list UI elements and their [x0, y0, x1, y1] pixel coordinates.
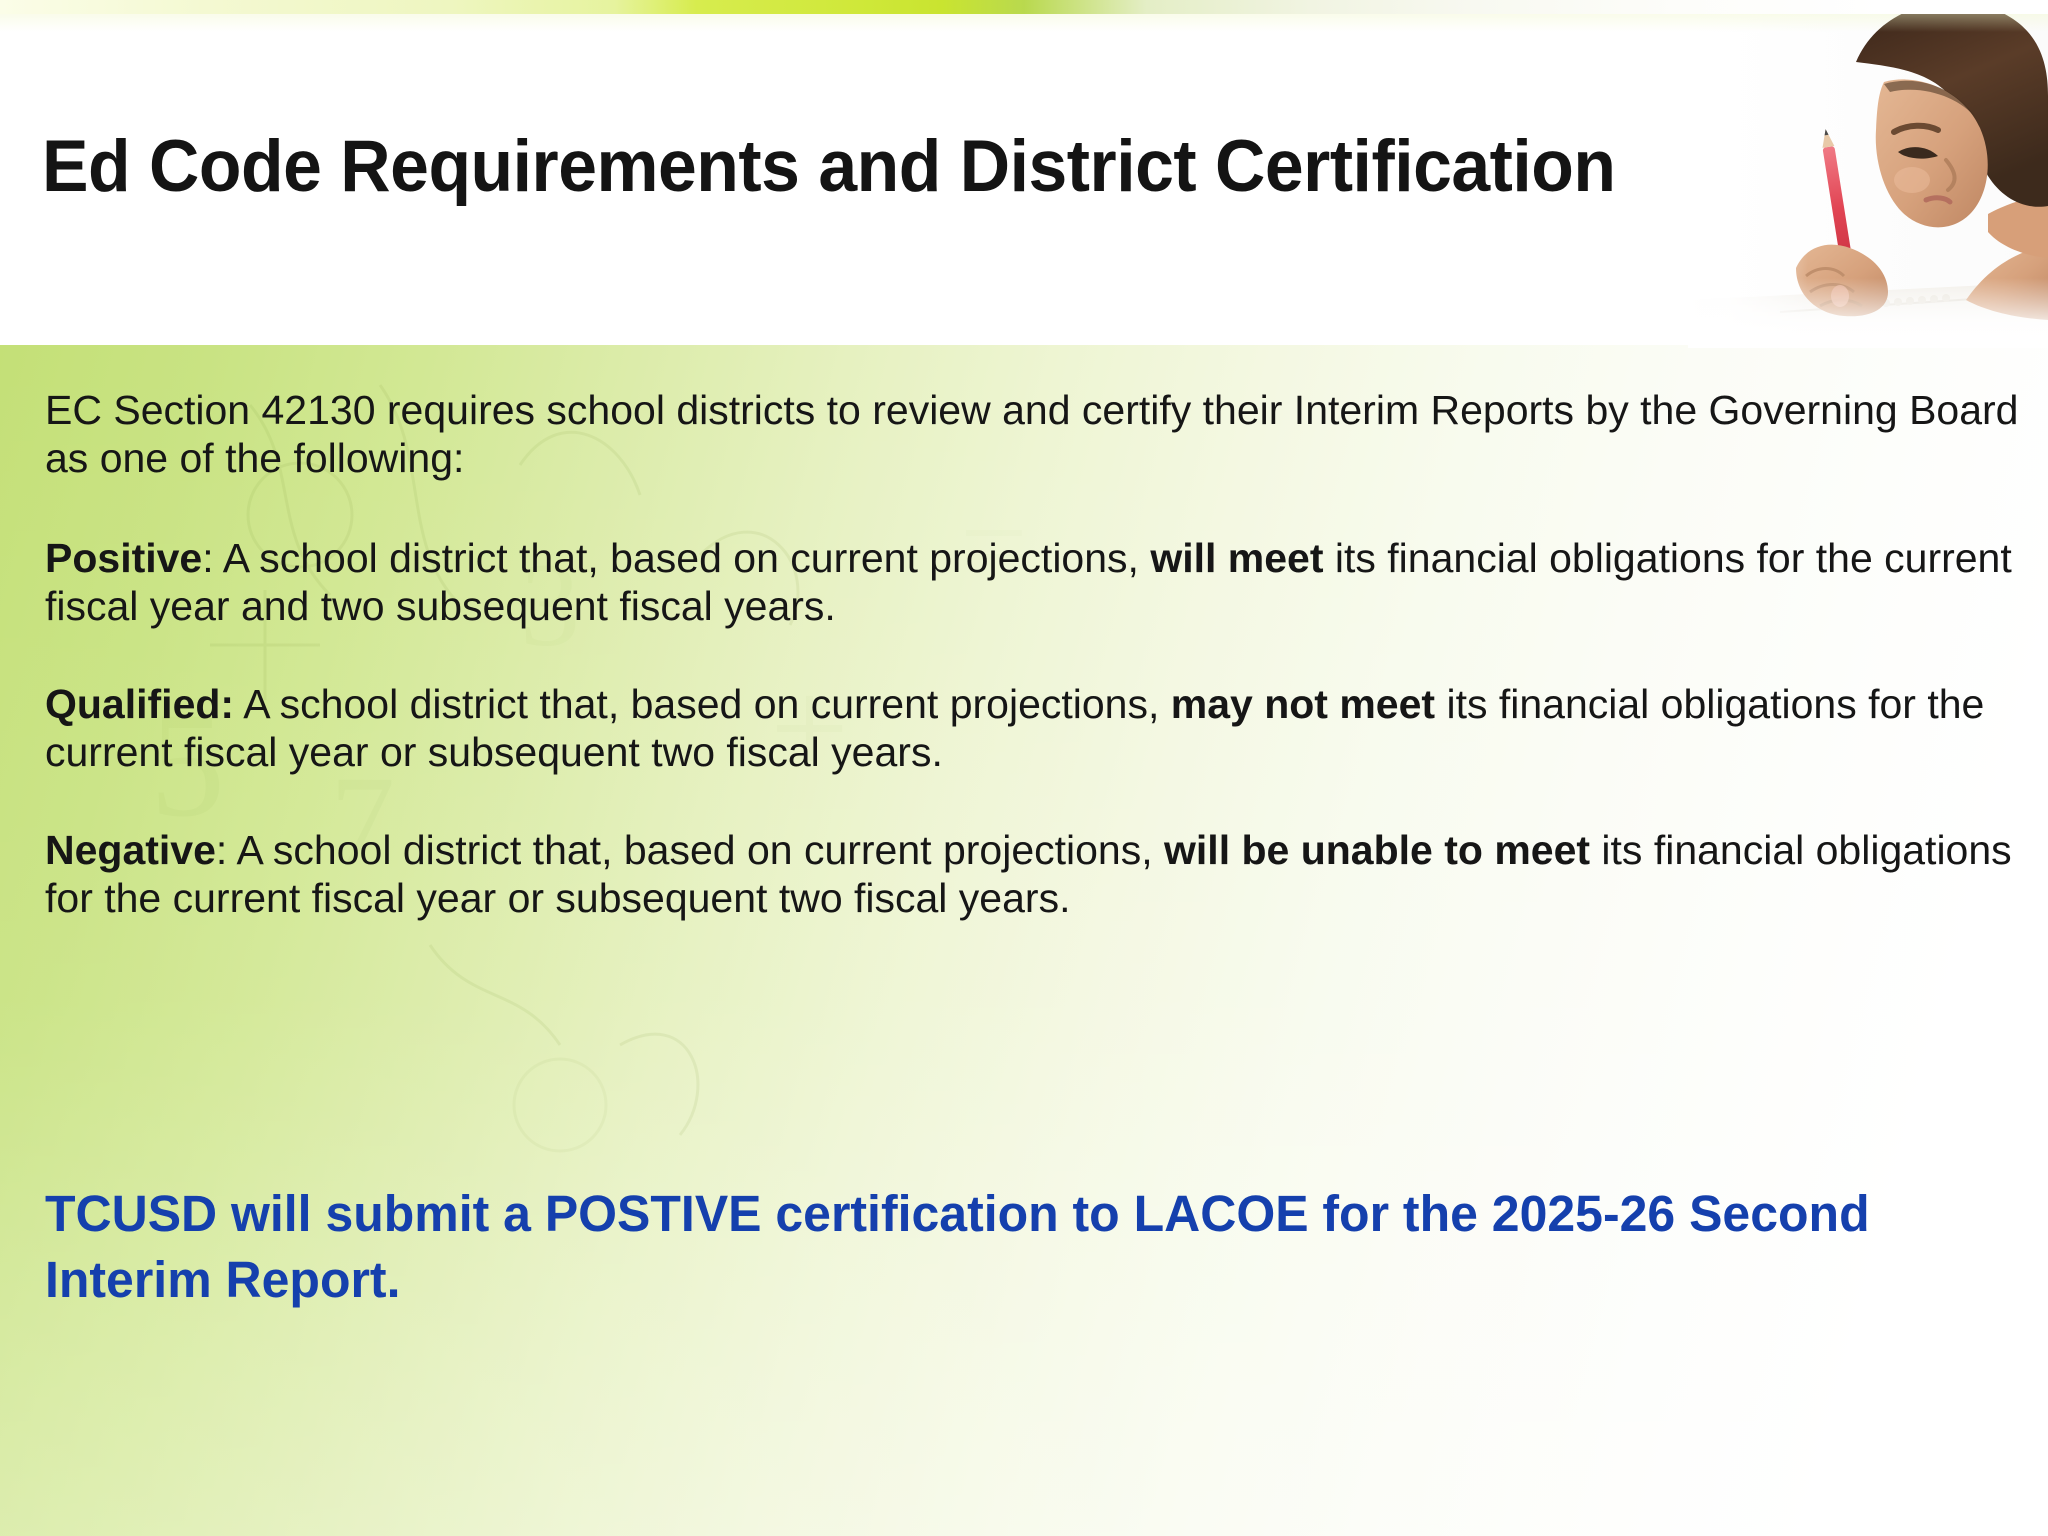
- body-copy: EC Section 42130 requires school distric…: [45, 387, 2020, 923]
- negative-label: Negative: [45, 827, 216, 873]
- slide-root: 5 7 3 + = EC Section 42130 requires scho…: [0, 0, 2048, 1536]
- paragraph-positive: Positive: A school district that, based …: [45, 535, 2020, 631]
- positive-emphasis: will meet: [1150, 535, 1323, 581]
- closing-text: TCUSD will submit a POSTIVE certificatio…: [45, 1185, 1870, 1308]
- intro-text: EC Section 42130 requires school distric…: [45, 387, 2019, 481]
- qualified-emphasis: may not meet: [1171, 681, 1435, 727]
- top-decorative-strip: [0, 0, 2048, 14]
- negative-label-punct: :: [216, 827, 227, 873]
- qualified-part-1: A school district that, based on current…: [234, 681, 1171, 727]
- positive-label-punct: :: [202, 535, 213, 581]
- qualified-label: Qualified:: [45, 681, 234, 727]
- negative-emphasis: will be unable to meet: [1164, 827, 1590, 873]
- paragraph-intro: EC Section 42130 requires school distric…: [45, 387, 2020, 483]
- page-title: Ed Code Requirements and District Certif…: [42, 125, 1616, 208]
- positive-part-1: A school district that, based on current…: [214, 535, 1151, 581]
- paragraph-negative: Negative: A school district that, based …: [45, 827, 2020, 923]
- closing-statement: TCUSD will submit a POSTIVE certificatio…: [45, 1181, 1907, 1314]
- paragraph-qualified: Qualified: A school district that, based…: [45, 681, 2020, 777]
- child-writing-photo: [1688, 0, 2048, 348]
- negative-part-1: A school district that, based on current…: [227, 827, 1164, 873]
- positive-label: Positive: [45, 535, 202, 581]
- content-panel: 5 7 3 + = EC Section 42130 requires scho…: [0, 345, 2048, 1536]
